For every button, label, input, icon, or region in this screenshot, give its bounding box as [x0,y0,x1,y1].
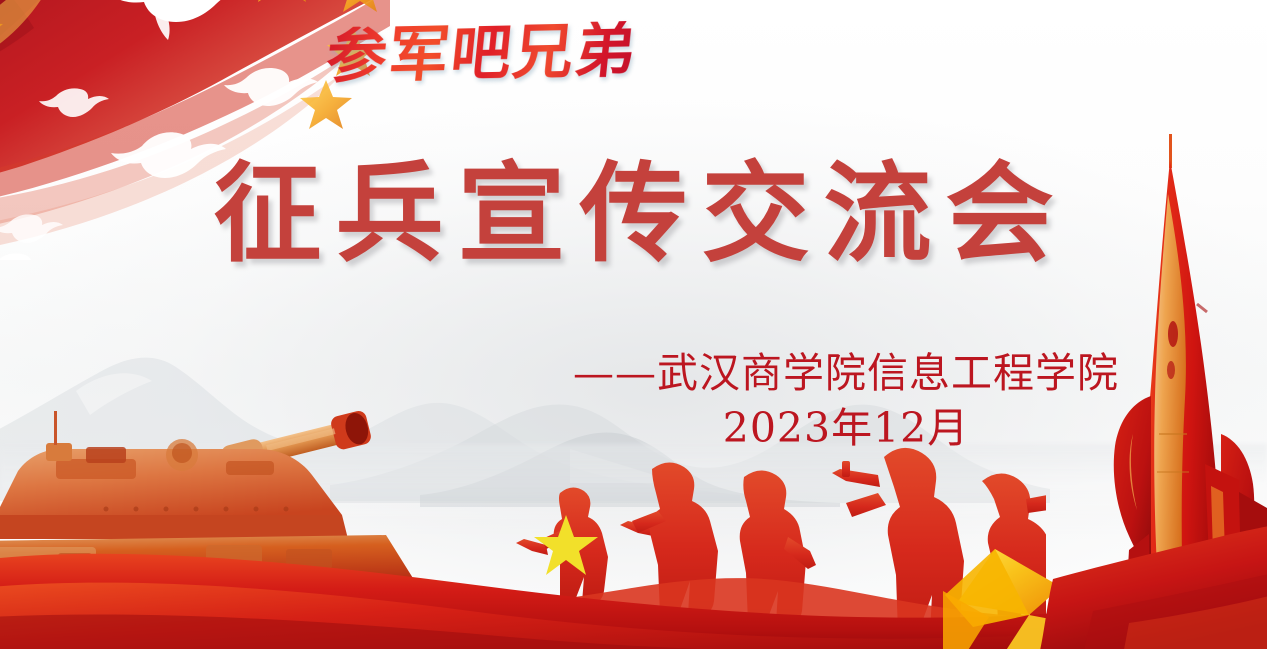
poster-title-text: 征兵宣传交流会 [199,158,1067,271]
gold-star-ribbon-right [943,505,1267,649]
calligraphy-text: 参军吧兄弟 [324,21,641,87]
calligraphy-logo: 参军吧兄弟 [292,6,672,102]
recruitment-poster: 参军吧兄弟 征兵宣传交流会 ——武汉商学院信息工程学院 2023年12月 [0,0,1267,649]
subtitle-organization: ——武汉商学院信息工程学院 [573,348,1119,398]
